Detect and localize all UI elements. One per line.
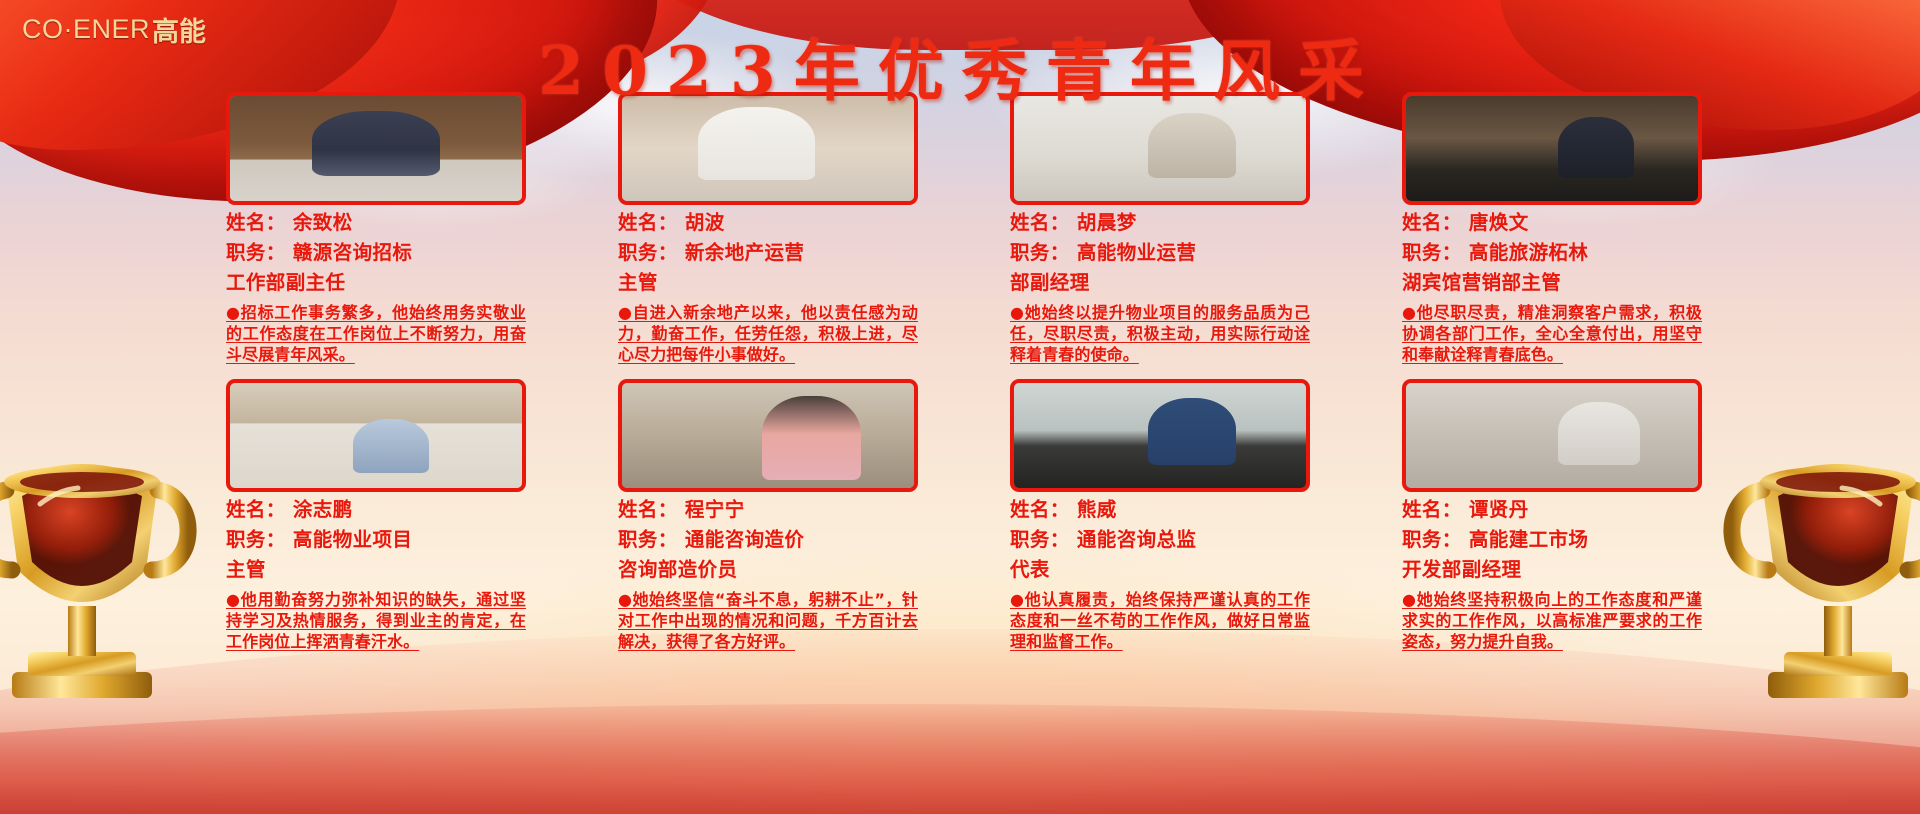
profile-card: 姓名： 谭贤丹 职务： 高能建工市场 开发部副经理 ●她始终坚持积极向上的工作态… [1402,379,1702,652]
profile-description: ●他尽职尽责，精准洞察客户需求，积极协调各部门工作，全心全意付出，用坚守和奉献诠… [1402,302,1702,365]
company-logo: CO·ENER 高能 [22,10,206,49]
profile-name-line: 姓名： 熊威 [1010,497,1310,522]
profile-title-line-2: 主管 [618,270,918,295]
profile-name-line: 姓名： 胡晨梦 [1010,210,1310,235]
profile-name-line: 姓名： 程宁宁 [618,497,918,522]
logo-mark-text: CO·ENER [22,14,150,45]
profile-title-line-2: 部副经理 [1010,270,1310,295]
profile-title-line-2: 开发部副经理 [1402,557,1702,582]
profile-name-line: 姓名： 谭贤丹 [1402,497,1702,522]
profile-card: 姓名： 余致松 职务： 赣源咨询招标 工作部副主任 ●招标工作事务繁多，他始终用… [226,92,526,365]
logo-chinese-text: 高能 [152,10,206,49]
profile-description: ●他用勤奋努力弥补知识的缺失，通过坚持学习及热情服务，得到业主的肯定，在工作岗位… [226,589,526,652]
profile-title-line-2: 主管 [226,557,526,582]
profile-title-line-2: 工作部副主任 [226,270,526,295]
profile-title-line-2: 代表 [1010,557,1310,582]
profile-title-line: 职务： 高能建工市场 [1402,527,1702,552]
profile-photo [1406,383,1698,488]
profile-description: ●自进入新余地产以来，他以责任感为动力，勤奋工作，任劳任怨，积极上进，尽心尽力把… [618,302,918,365]
profile-title-line: 职务： 新余地产运营 [618,240,918,265]
profile-card: 姓名： 胡波 职务： 新余地产运营 主管 ●自进入新余地产以来，他以责任感为动力… [618,92,918,365]
profile-photo-frame [1402,379,1702,492]
profile-name-line: 姓名： 唐焕文 [1402,210,1702,235]
profile-name-line: 姓名： 胡波 [618,210,918,235]
poster-canvas: CO·ENER 高能 2023年优秀青年风采 [0,0,1920,814]
profile-name-line: 姓名： 涂志鹏 [226,497,526,522]
profile-title-line-2: 湖宾馆营销部主管 [1402,270,1702,295]
profile-description: ●他认真履责，始终保持严谨认真的工作态度和一丝不苟的工作作风，做好日常监理和监督… [1010,589,1310,652]
profile-card: 姓名： 唐焕文 职务： 高能旅游柘林 湖宾馆营销部主管 ●他尽职尽责，精准洞察客… [1402,92,1702,365]
profile-card-grid: 姓名： 余致松 职务： 赣源咨询招标 工作部副主任 ●招标工作事务繁多，他始终用… [226,92,1704,652]
profile-photo-frame [226,379,526,492]
profile-title-line: 职务： 通能咨询造价 [618,527,918,552]
profile-card: 姓名： 熊威 职务： 通能咨询总监 代表 ●他认真履责，始终保持严谨认真的工作态… [1010,379,1310,652]
page-title: 2023年优秀青年风采 [0,18,1920,114]
profile-title-line: 职务： 通能咨询总监 [1010,527,1310,552]
profile-title-line: 职务： 高能物业项目 [226,527,526,552]
profile-card: 姓名： 胡晨梦 职务： 高能物业运营 部副经理 ●她始终以提升物业项目的服务品质… [1010,92,1310,365]
profile-title-line: 职务： 赣源咨询招标 [226,240,526,265]
profile-card: 姓名： 程宁宁 职务： 通能咨询造价 咨询部造价员 ●她始终坚信“奋斗不息，躬耕… [618,379,918,652]
profile-description: ●她始终以提升物业项目的服务品质为己任，尽职尽责，积极主动，用实际行动诠释着青春… [1010,302,1310,365]
profile-description: ●她始终坚信“奋斗不息，躬耕不止”，针对工作中出现的情况和问题，千方百计去解决，… [618,589,918,652]
profile-description: ●她始终坚持积极向上的工作态度和严谨求实的工作作风，以高标准严要求的工作姿态，努… [1402,589,1702,652]
profile-title-line: 职务： 高能旅游柘林 [1402,240,1702,265]
profile-photo [1014,383,1306,488]
profile-card: 姓名： 涂志鹏 职务： 高能物业项目 主管 ●他用勤奋努力弥补知识的缺失，通过坚… [226,379,526,652]
profile-photo-frame [618,379,918,492]
profile-photo [230,383,522,488]
profile-photo-frame [1010,379,1310,492]
profile-photo [622,383,914,488]
profile-title-line-2: 咨询部造价员 [618,557,918,582]
profile-name-line: 姓名： 余致松 [226,210,526,235]
profile-description: ●招标工作事务繁多，他始终用务实敬业的工作态度在工作岗位上不断努力，用奋斗尽展青… [226,302,526,365]
profile-title-line: 职务： 高能物业运营 [1010,240,1310,265]
